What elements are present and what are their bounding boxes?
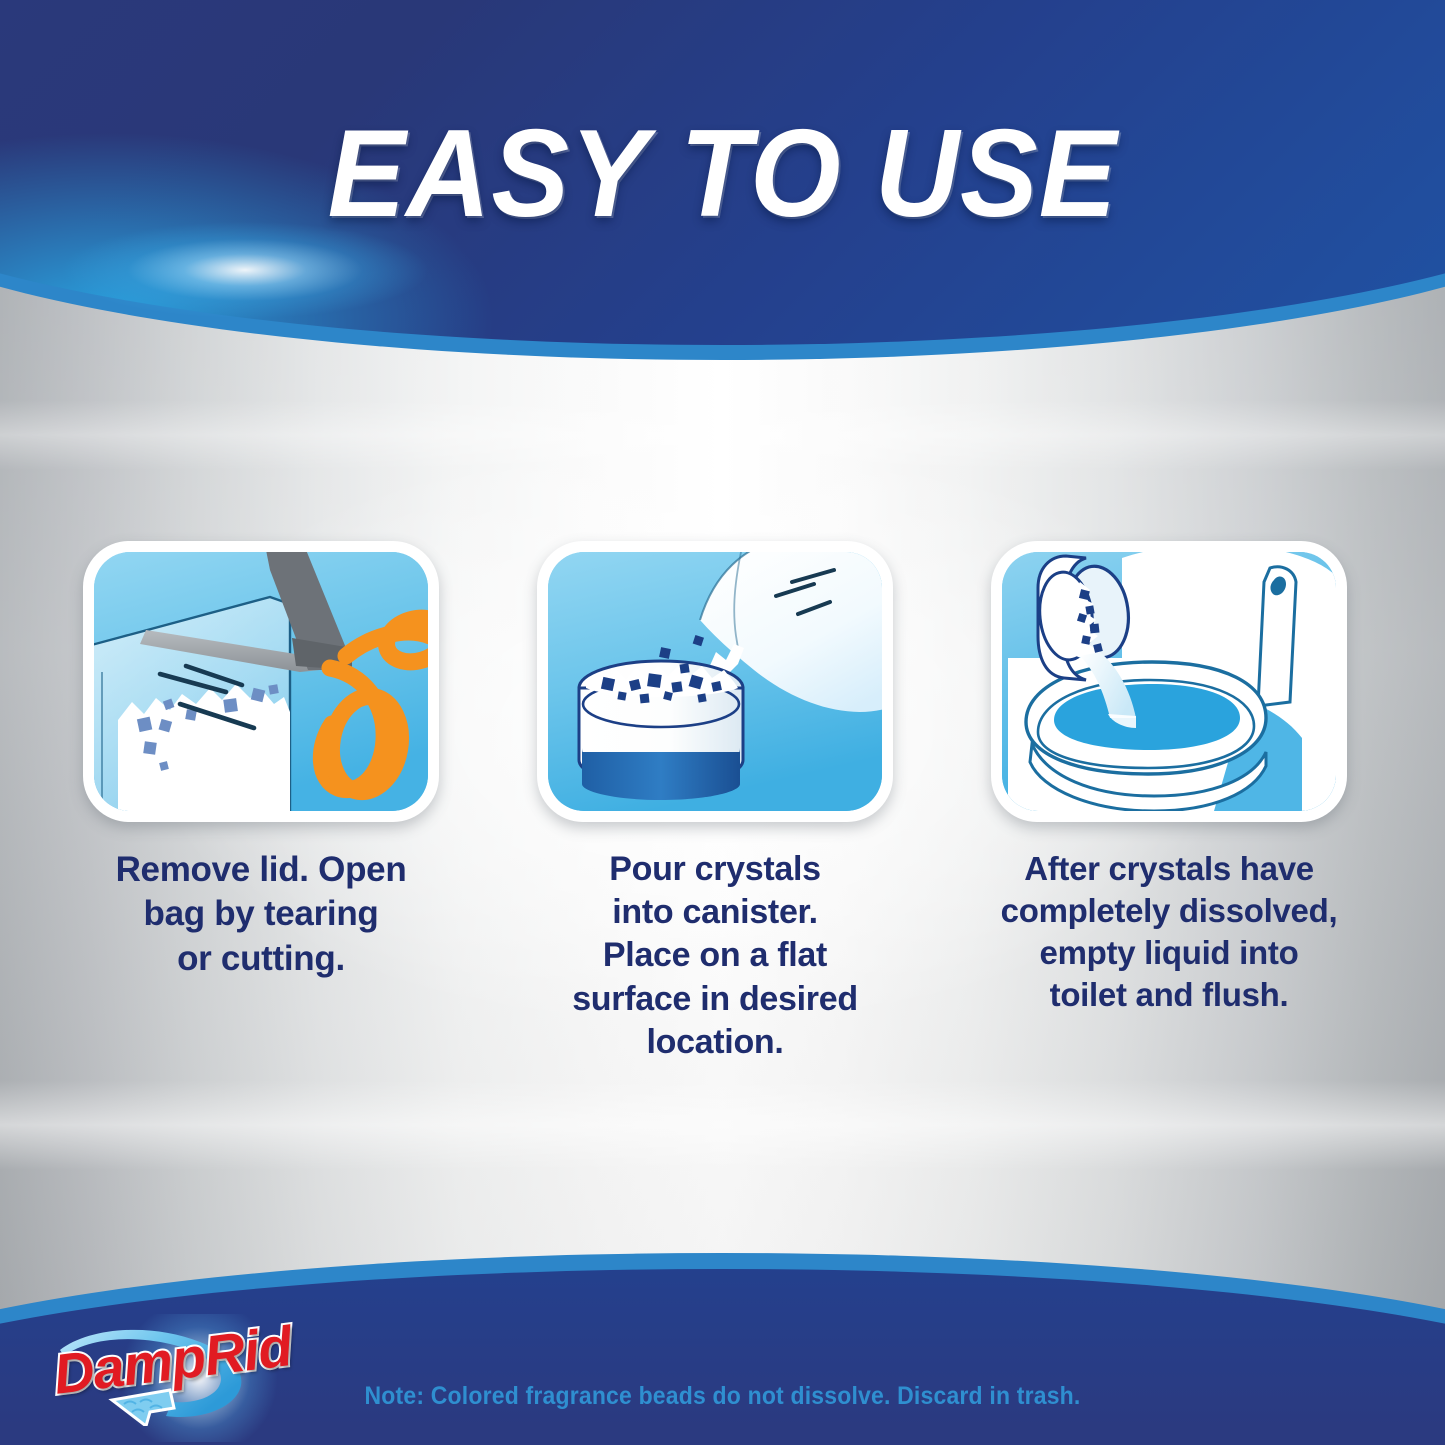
caption-line: empty liquid into <box>974 932 1364 974</box>
step-1-panel <box>83 541 439 822</box>
caption-line: Remove lid. Open <box>83 848 439 892</box>
step-2: Pour crystals into canister. Place on a … <box>537 541 893 1064</box>
step-3-caption: After crystals have completely dissolved… <box>974 848 1364 1016</box>
empty-liquid-into-toilet-icon <box>1002 552 1336 811</box>
footer-note: Note: Colored fragrance beads do not dis… <box>58 1382 1387 1411</box>
caption-line: Pour crystals <box>537 848 893 891</box>
caption-line: After crystals have <box>974 848 1364 890</box>
step-2-caption: Pour crystals into canister. Place on a … <box>537 848 893 1064</box>
caption-line: toilet and flush. <box>974 974 1364 1016</box>
caption-line: into canister. <box>537 891 893 934</box>
caption-line: completely dissolved, <box>974 890 1364 932</box>
step-2-panel <box>537 541 893 822</box>
caption-line: or cutting. <box>83 937 439 981</box>
step-3: After crystals have completely dissolved… <box>991 541 1347 1016</box>
caption-line: location. <box>537 1021 893 1064</box>
step-3-panel <box>991 541 1347 822</box>
pour-crystals-into-canister-icon <box>548 552 882 811</box>
damprid-logo: DampRid <box>36 1318 296 1438</box>
scissors-cutting-bag-icon <box>94 552 428 811</box>
product-instruction-graphic: EASY TO USE <box>0 0 1445 1445</box>
step-1: Remove lid. Open bag by tearing or cutti… <box>83 541 439 981</box>
step-1-caption: Remove lid. Open bag by tearing or cutti… <box>83 848 439 981</box>
caption-line: bag by tearing <box>83 892 439 936</box>
caption-line: Place on a flat <box>537 934 893 977</box>
caption-line: surface in desired <box>537 978 893 1021</box>
